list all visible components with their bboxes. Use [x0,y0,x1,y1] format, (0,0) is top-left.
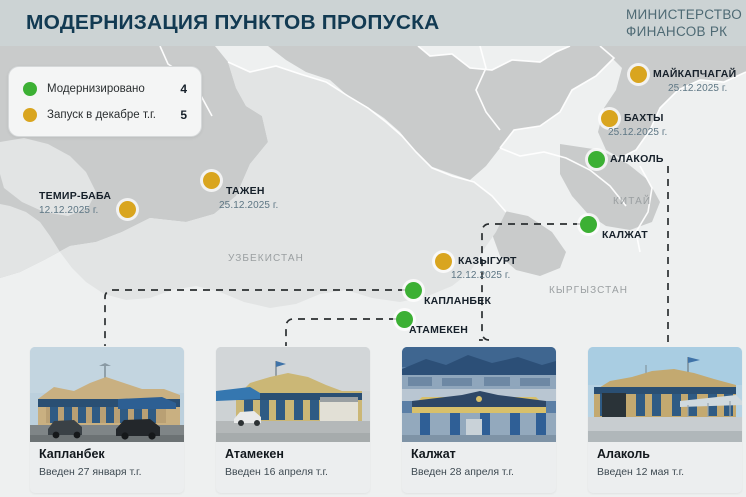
ministry-label: МИНИСТЕРСТВО ФИНАНСОВ РК [626,7,742,40]
legend-label: Модернизировано [47,83,145,95]
point-date: 25.12.2025 г. [219,200,278,211]
point-dot-gold-icon [203,172,220,189]
checkpoint-card-name: Капланбек [39,447,105,461]
ministry-line-2: ФИНАНСОВ РК [626,24,742,41]
checkpoint-photo [30,347,184,442]
point-name: АЛАКОЛЬ [610,153,664,165]
header-bar: МОДЕРНИЗАЦИЯ ПУНКТОВ ПРОПУСКА МИНИСТЕРСТ… [0,0,746,46]
legend-item-modernized: Модернизировано 4 [23,78,193,100]
point-date: 12.12.2025 г. [451,270,510,281]
checkpoint-card-name: Алаколь [597,447,650,461]
point-name: КАЛЖАТ [602,229,648,241]
checkpoint-photo [216,347,370,442]
point-date: 12.12.2025 г. [39,205,98,216]
point-dot-green-icon [580,216,597,233]
point-name: ТАЖЕН [226,185,265,197]
legend-dot-gold-icon [23,108,37,122]
legend-box: Модернизировано 4 Запуск в декабре т.г. … [8,66,202,137]
checkpoint-card-name: Калжат [411,447,456,461]
point-name: АТАМЕКЕН [409,324,468,336]
checkpoint-card-kalzhat[interactable]: Калжат Введен 28 апреля т.г. [402,347,556,493]
legend-count: 5 [180,108,187,122]
legend-count: 4 [180,82,187,96]
point-dot-gold-icon [119,201,136,218]
point-dot-gold-icon [630,66,647,83]
point-date: 25.12.2025 г. [608,127,667,138]
point-dot-green-icon [588,151,605,168]
checkpoint-card-atameken[interactable]: Атамекен Введен 16 апреля т.г. [216,347,370,493]
country-label-china: КИТАЙ [613,196,651,207]
checkpoint-card-name: Атамекен [225,447,284,461]
checkpoint-card-alakol[interactable]: Алаколь Введен 12 мая т.г. [588,347,742,493]
checkpoint-card-desc: Введен 16 апреля т.г. [225,466,328,478]
point-dot-gold-icon [435,253,452,270]
point-date: 25.12.2025 г. [668,83,727,94]
checkpoint-card-desc: Введен 28 апреля т.г. [411,466,514,478]
point-name: ТЕМИР-БАБА [39,190,111,202]
country-label-kyrgyzstan: КЫРГЫЗСТАН [549,285,628,296]
point-dot-green-icon [405,282,422,299]
checkpoint-photo [588,347,742,442]
country-label-uzbekistan: УЗБЕКИСТАН [228,253,304,264]
checkpoint-card-kaplanbek[interactable]: Капланбек Введен 27 января т.г. [30,347,184,493]
ministry-line-1: МИНИСТЕРСТВО [626,7,742,24]
point-dot-gold-icon [601,110,618,127]
point-name: МАЙКАПЧАГАЙ [653,68,736,80]
point-name: КАПЛАНБЕК [424,295,491,307]
legend-dot-green-icon [23,82,37,96]
legend-item-launch-december: Запуск в декабре т.г. 5 [23,104,193,126]
checkpoint-card-desc: Введен 12 мая т.г. [597,466,684,478]
infographic-root: МОДЕРНИЗАЦИЯ ПУНКТОВ ПРОПУСКА МИНИСТЕРСТ… [0,0,746,497]
legend-label: Запуск в декабре т.г. [47,109,156,121]
checkpoint-photo [402,347,556,442]
checkpoint-card-desc: Введен 27 января т.г. [39,466,142,478]
point-name: КАЗЫГУРТ [458,255,517,267]
point-name: БАХТЫ [624,112,664,124]
page-title: МОДЕРНИЗАЦИЯ ПУНКТОВ ПРОПУСКА [26,11,439,35]
